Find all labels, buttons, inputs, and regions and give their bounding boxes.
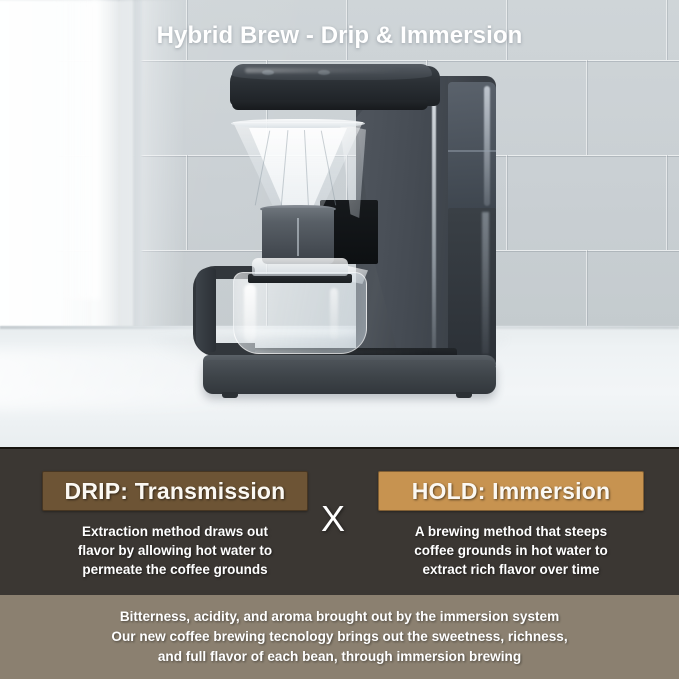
water-tank-highlight [484, 86, 490, 206]
badge-hold-label: HOLD: Immersion [412, 478, 611, 505]
coffee-maker [0, 0, 679, 447]
drip-description-line: Extraction method draws out [42, 522, 308, 541]
water-tank-seam [448, 150, 496, 152]
badge-hold: HOLD: Immersion [378, 471, 644, 511]
machine-base [203, 360, 496, 394]
cross-separator-icon: X [313, 496, 353, 542]
product-infographic-poster: Hybrid Brew - Drip & Immersion DRIP: Tra… [0, 0, 679, 679]
footer-line: and full flavor of each bean, through im… [111, 647, 567, 667]
comparison-column-hold: HOLD: Immersion A brewing method that st… [378, 471, 644, 579]
footer-banner: Bitterness, acidity, and aroma brought o… [0, 595, 679, 679]
badge-drip-label: DRIP: Transmission [65, 478, 286, 505]
drip-description-line: permeate the coffee grounds [42, 560, 308, 579]
footer-text-block: Bitterness, acidity, and aroma brought o… [85, 607, 593, 666]
panel-divider [0, 447, 679, 449]
control-button-right[interactable] [318, 70, 330, 75]
hold-description-line: A brewing method that steeps [378, 522, 644, 541]
dripper-rim [231, 119, 365, 128]
hold-description-line: coffee grounds in hot water to [378, 541, 644, 560]
footer-line: Bitterness, acidity, and aroma brought o… [111, 607, 567, 627]
machine-chrome-accent [432, 86, 436, 358]
product-photo: Hybrid Brew - Drip & Immersion [0, 0, 679, 447]
carafe-highlight-left [244, 284, 256, 342]
carafe-lid [252, 258, 348, 276]
drip-description: Extraction method draws out flavor by al… [42, 522, 308, 579]
dripper-collar-slot [297, 218, 299, 256]
machine-foot-left [222, 392, 238, 398]
carafe-handle-grip [196, 268, 216, 352]
machine-foot-right [456, 392, 472, 398]
control-button-left[interactable] [262, 70, 274, 75]
machine-rear-highlight [482, 212, 489, 354]
drip-description-line: flavor by allowing hot water to [42, 541, 308, 560]
hold-description-line: extract rich flavor over time [378, 560, 644, 579]
badge-drip: DRIP: Transmission [42, 471, 308, 511]
machine-head-underside [232, 100, 428, 110]
carafe-highlight-right [330, 288, 338, 340]
page-title: Hybrid Brew - Drip & Immersion [0, 22, 679, 50]
footer-line: Our new coffee brewing tecnology brings … [111, 627, 567, 647]
comparison-column-drip: DRIP: Transmission Extraction method dra… [42, 471, 308, 579]
hold-description: A brewing method that steeps coffee grou… [378, 522, 644, 579]
